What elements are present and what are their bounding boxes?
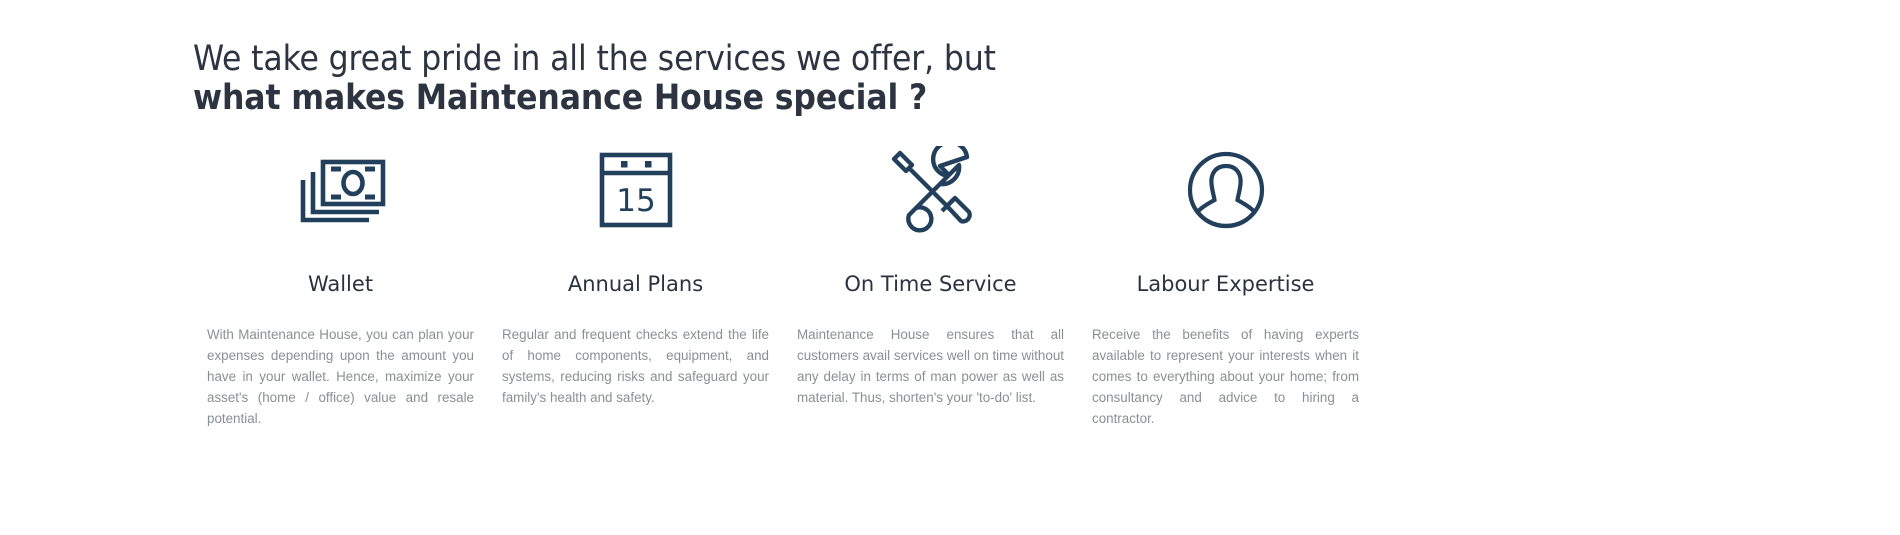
feature-card-text: With Maintenance House, you can plan you… bbox=[207, 298, 474, 429]
feature-card-text: Regular and frequent checks extend the l… bbox=[502, 298, 769, 408]
calendar-day-label: 15 bbox=[616, 183, 655, 219]
heading-line-1: We take great pride in all the services … bbox=[193, 40, 1373, 79]
feature-card-labour-expertise[interactable]: Labour Expertise Receive the benefits of… bbox=[1078, 144, 1373, 428]
services-feature-section: We take great pride in all the services … bbox=[0, 0, 1900, 535]
feature-card-title: Annual Plans bbox=[568, 244, 703, 297]
feature-card-text: Maintenance House ensures that all custo… bbox=[797, 298, 1064, 408]
feature-card-title: Wallet bbox=[308, 244, 373, 297]
feature-card-title: On Time Service bbox=[844, 244, 1016, 297]
content-container: We take great pride in all the services … bbox=[193, 0, 1373, 429]
feature-card-annual-plans[interactable]: 15 Annual Plans Regular and frequent che… bbox=[488, 144, 783, 428]
heading-line-2: what makes Maintenance House special ? bbox=[193, 79, 1373, 118]
feature-card-title: Labour Expertise bbox=[1137, 244, 1315, 297]
feature-card-wallet[interactable]: Wallet With Maintenance House, you can p… bbox=[193, 144, 488, 428]
feature-card-on-time-service[interactable]: On Time Service Maintenance House ensure… bbox=[783, 144, 1078, 428]
page-title: We take great pride in all the services … bbox=[193, 0, 1373, 118]
calendar-icon: 15 bbox=[502, 144, 769, 236]
banknotes-icon bbox=[207, 144, 474, 236]
wrench-screwdriver-icon bbox=[797, 144, 1064, 236]
person-circle-icon bbox=[1092, 144, 1359, 236]
feature-cards-grid: Wallet With Maintenance House, you can p… bbox=[193, 144, 1373, 428]
feature-card-text: Receive the benefits of having experts a… bbox=[1092, 298, 1359, 429]
